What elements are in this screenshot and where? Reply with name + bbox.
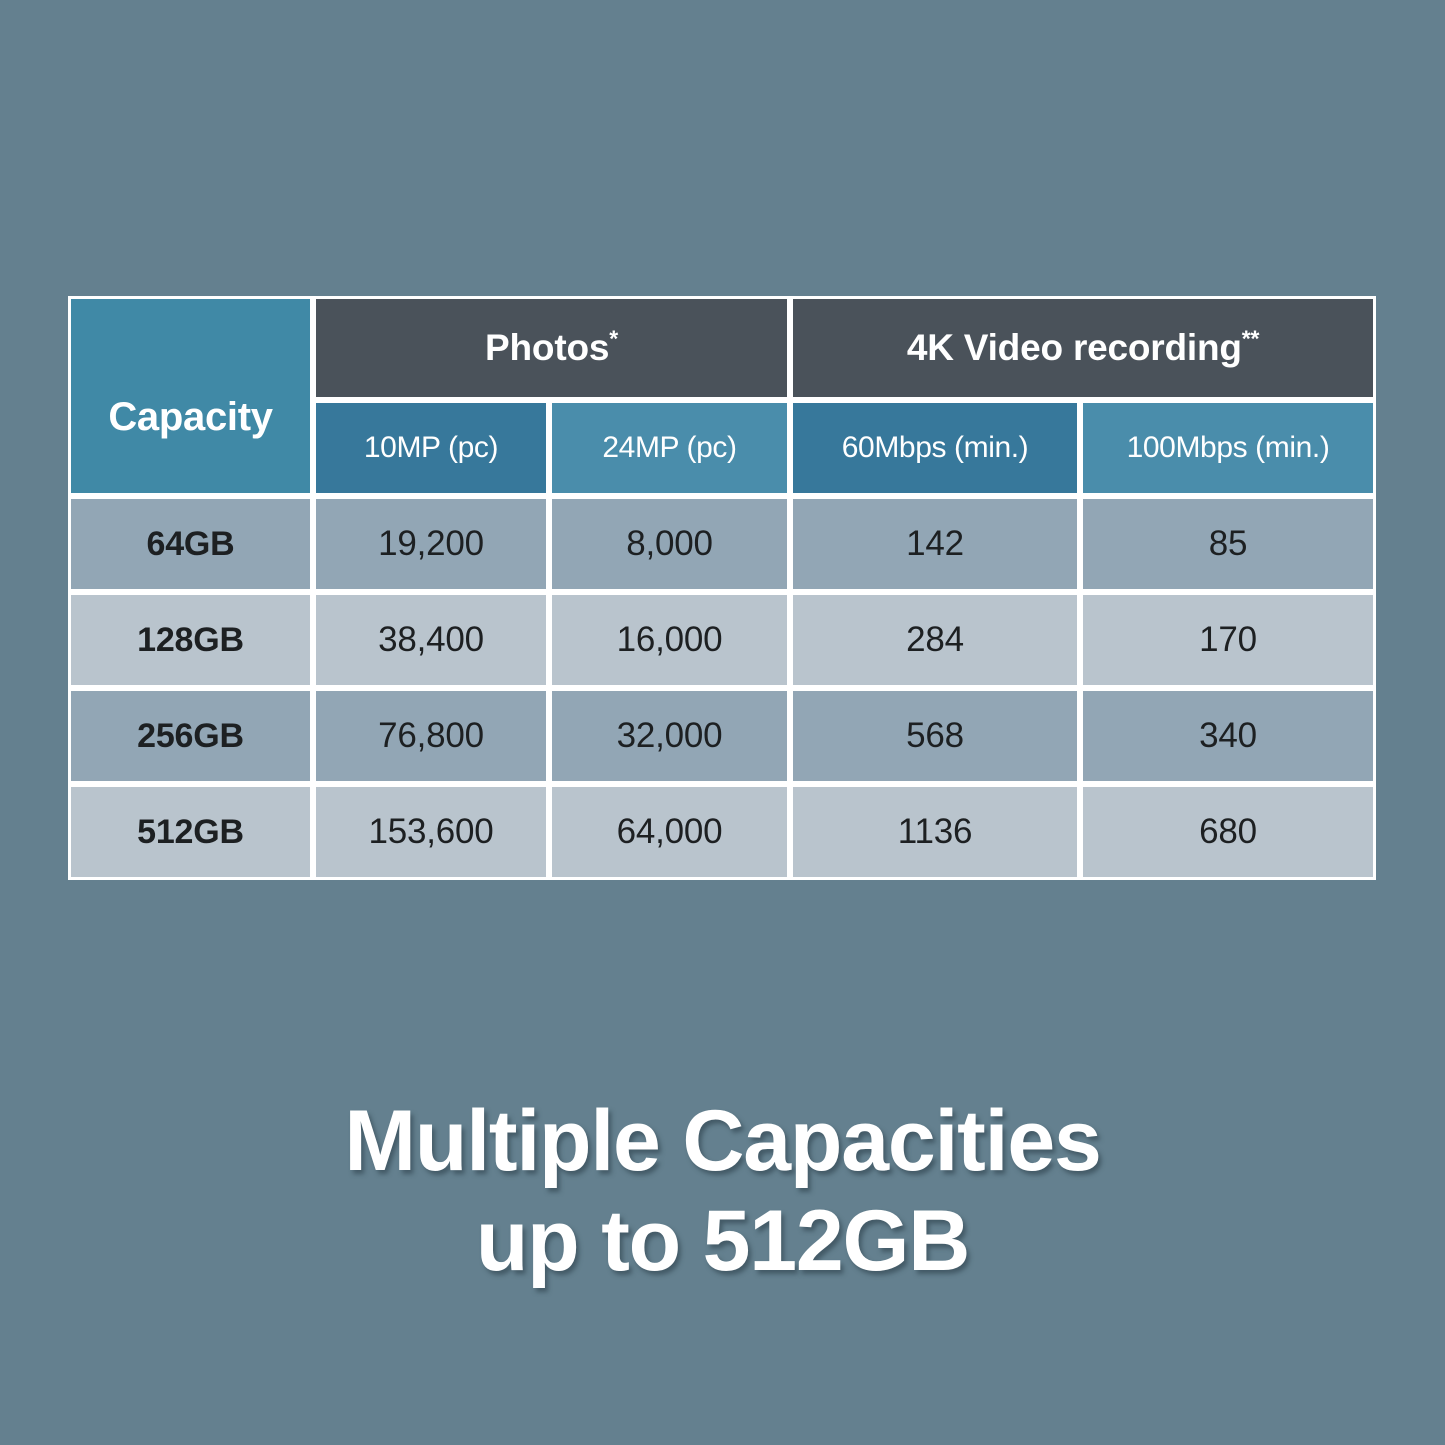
cell-video-100mbps: 85 — [1080, 496, 1376, 592]
table-row: 64GB 19,200 8,000 142 85 — [68, 496, 1376, 592]
header-group-photos: Photos* — [313, 296, 790, 400]
header-group-photos-label: Photos — [485, 327, 609, 368]
header-sub-100mbps: 100Mbps (min.) — [1080, 400, 1376, 496]
table-header: Capacity Photos* 4K Video recording** 10… — [68, 296, 1376, 496]
cell-capacity: 512GB — [68, 784, 313, 880]
cell-photos-10mp: 76,800 — [313, 688, 549, 784]
headline-line-2: up to 512GB — [0, 1192, 1445, 1292]
capacity-spec-table: Capacity Photos* 4K Video recording** 10… — [68, 296, 1376, 880]
header-capacity-label: Capacity — [108, 395, 272, 439]
table-row: 512GB 153,600 64,000 1136 680 — [68, 784, 1376, 880]
table-body: 64GB 19,200 8,000 142 85 128GB 38,400 16… — [68, 496, 1376, 880]
cell-video-100mbps: 170 — [1080, 592, 1376, 688]
cell-photos-10mp: 153,600 — [313, 784, 549, 880]
cell-video-100mbps: 340 — [1080, 688, 1376, 784]
cell-photos-24mp: 16,000 — [549, 592, 790, 688]
header-sub-10mp: 10MP (pc) — [313, 400, 549, 496]
header-group-4k-video: 4K Video recording** — [790, 296, 1376, 400]
cell-video-60mbps: 1136 — [790, 784, 1080, 880]
cell-photos-24mp: 32,000 — [549, 688, 790, 784]
header-sub-24mp: 24MP (pc) — [549, 400, 790, 496]
cell-video-60mbps: 142 — [790, 496, 1080, 592]
cell-video-100mbps: 680 — [1080, 784, 1376, 880]
cell-capacity: 64GB — [68, 496, 313, 592]
cell-capacity: 256GB — [68, 688, 313, 784]
cell-photos-10mp: 38,400 — [313, 592, 549, 688]
footnote-marker-double-asterisk: ** — [1242, 326, 1259, 352]
headline: Multiple Capacities up to 512GB — [0, 1092, 1445, 1292]
headline-line-1: Multiple Capacities — [0, 1092, 1445, 1192]
cell-photos-10mp: 19,200 — [313, 496, 549, 592]
table-row: 128GB 38,400 16,000 284 170 — [68, 592, 1376, 688]
table-row: 256GB 76,800 32,000 568 340 — [68, 688, 1376, 784]
header-group-4k-video-label: 4K Video recording — [907, 327, 1242, 368]
cell-photos-24mp: 64,000 — [549, 784, 790, 880]
footnote-marker-single-asterisk: * — [609, 326, 618, 352]
header-sub-60mbps: 60Mbps (min.) — [790, 400, 1080, 496]
header-capacity: Capacity — [68, 296, 313, 496]
cell-capacity: 128GB — [68, 592, 313, 688]
cell-photos-24mp: 8,000 — [549, 496, 790, 592]
cell-video-60mbps: 284 — [790, 592, 1080, 688]
header-row-groups: Capacity Photos* 4K Video recording** — [68, 296, 1376, 400]
cell-video-60mbps: 568 — [790, 688, 1080, 784]
